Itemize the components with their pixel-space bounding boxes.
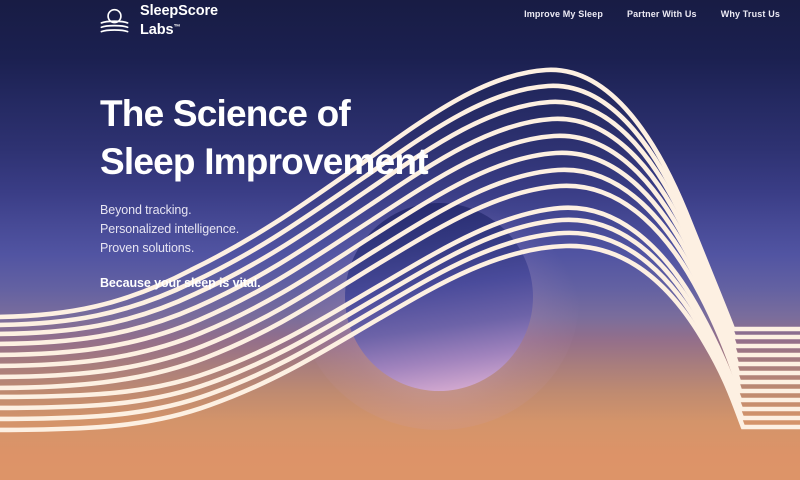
main-navigation: Improve My Sleep Partner With Us Why Tru… <box>524 9 780 19</box>
brand-wordmark: SleepScore Labs™ <box>140 4 218 37</box>
hero-subtitle-line1: Beyond tracking. <box>100 201 520 220</box>
hero-subtitle-line2: Personalized intelligence. <box>100 220 520 239</box>
hero-kicker: Because your sleep is vital. <box>100 274 520 293</box>
hero-title-line1: The Science of <box>100 90 520 138</box>
hero-subtitle: Beyond tracking. Personalized intelligen… <box>100 201 520 258</box>
nav-item-why-trust-us[interactable]: Why Trust Us <box>721 9 780 19</box>
brand-name-line2: Labs <box>140 22 173 38</box>
hero-page: SleepScore Labs™ Improve My Sleep Partne… <box>0 0 800 480</box>
brand-trademark: ™ <box>173 24 180 31</box>
hero-subtitle-line3: Proven solutions. <box>100 239 520 258</box>
hero-title-line2: Sleep Improvement <box>100 138 520 186</box>
sun-over-waves-icon <box>98 4 131 37</box>
brand-name-line1: SleepScore <box>140 3 218 19</box>
site-header: SleepScore Labs™ Improve My Sleep Partne… <box>0 0 800 48</box>
brand-logo-link[interactable]: SleepScore Labs™ <box>98 4 218 37</box>
nav-item-improve-my-sleep[interactable]: Improve My Sleep <box>524 9 603 19</box>
hero-title: The Science of Sleep Improvement <box>100 90 520 186</box>
hero-section: The Science of Sleep Improvement Beyond … <box>100 90 520 293</box>
nav-item-partner-with-us[interactable]: Partner With Us <box>627 9 697 19</box>
